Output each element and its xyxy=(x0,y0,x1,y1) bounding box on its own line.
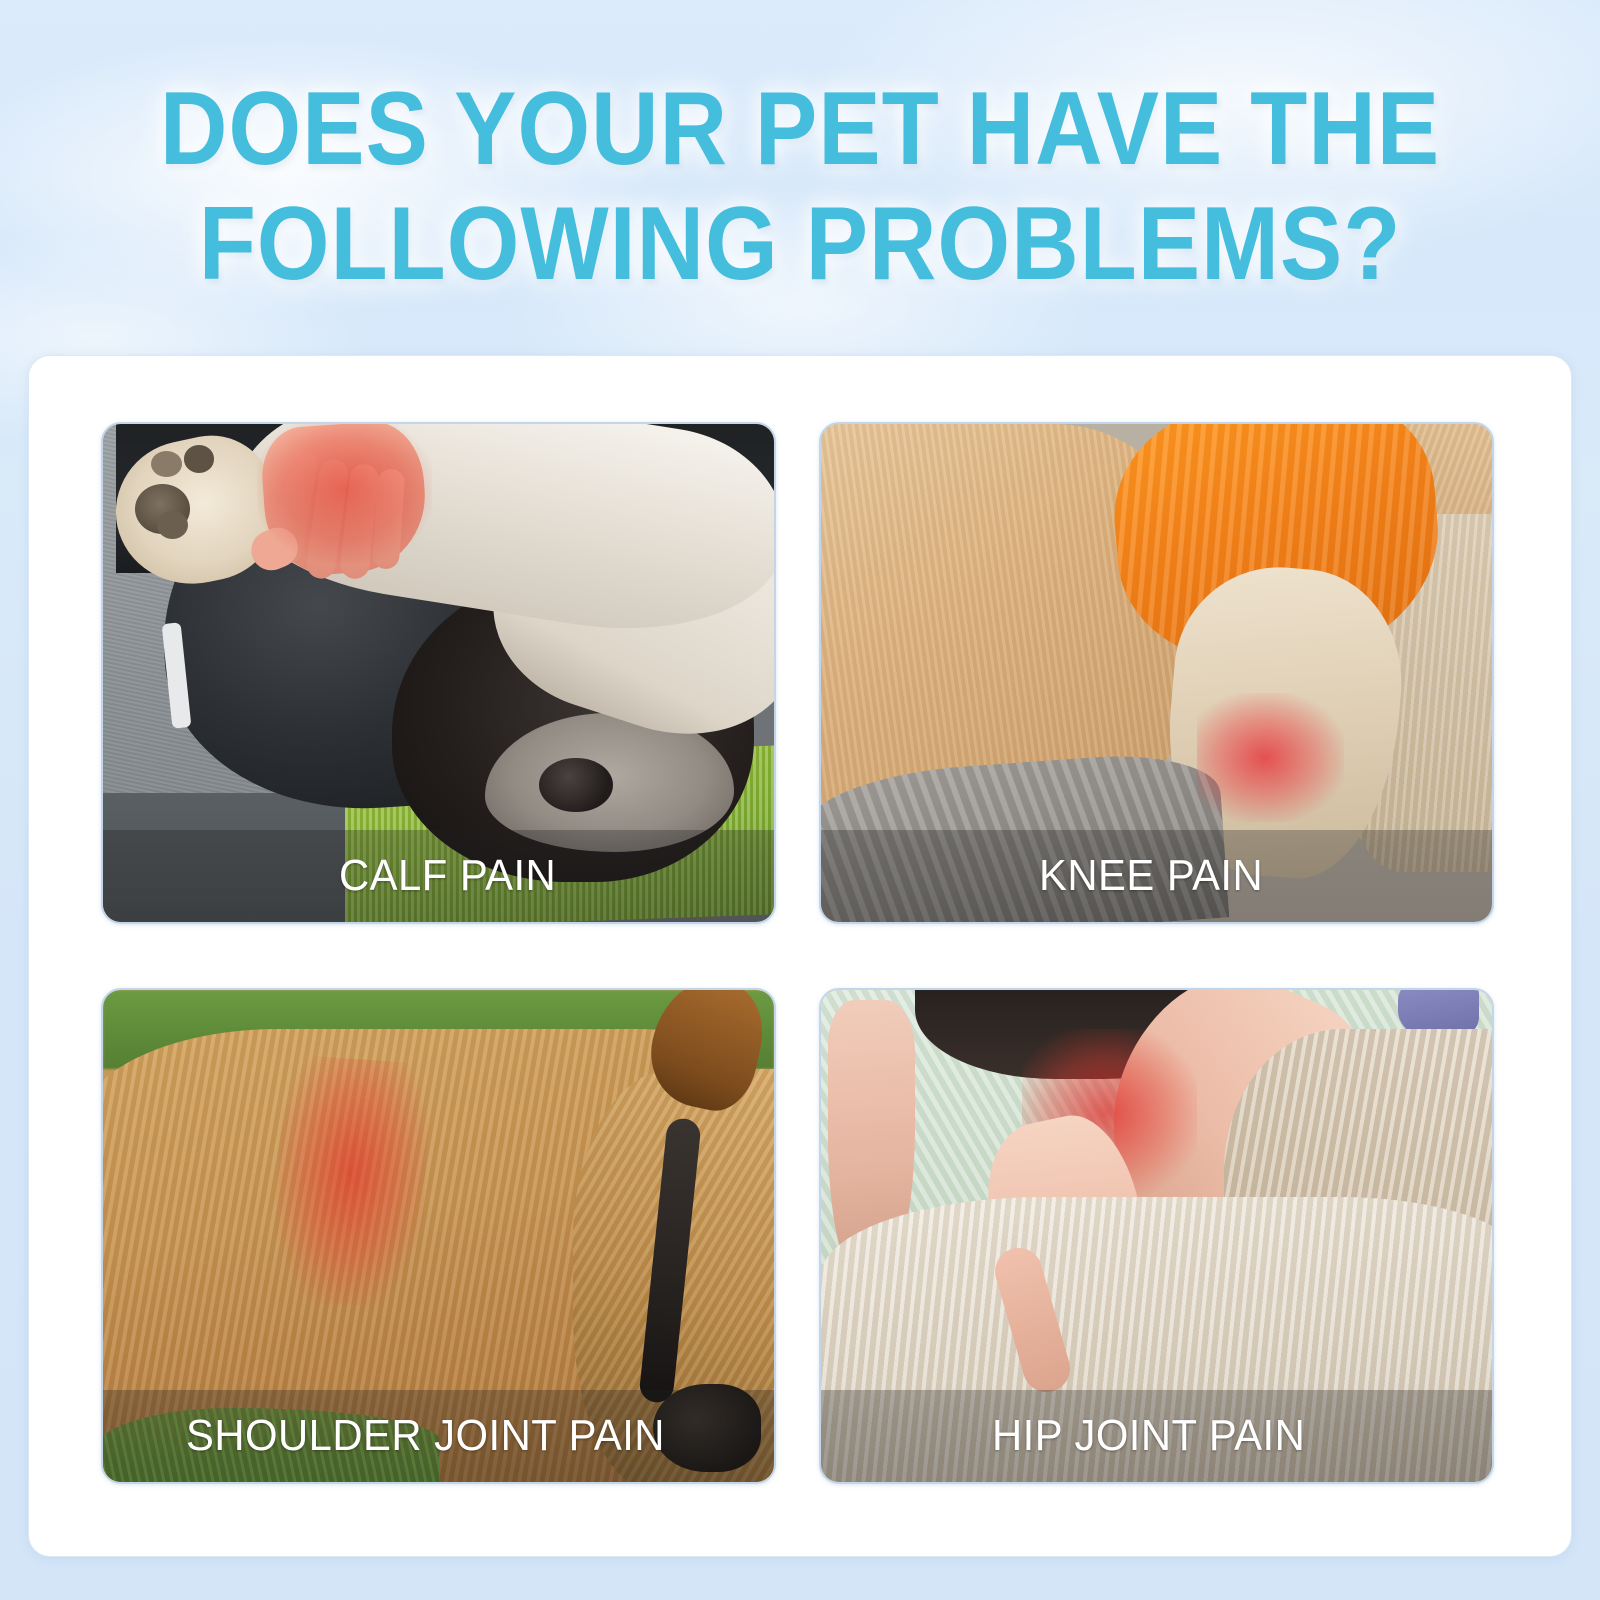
content-panel: CALF PAIN KNEE PAIN xyxy=(28,355,1572,1557)
caption-bar-calf-pain: CALF PAIN xyxy=(103,830,774,922)
promo-poster: DOES YOUR PET HAVE THE FOLLOWING PROBLEM… xyxy=(0,0,1600,1600)
pain-card-knee-pain[interactable]: KNEE PAIN xyxy=(819,422,1494,924)
pain-highlight-icon xyxy=(1197,693,1345,822)
pain-highlight-icon xyxy=(269,1054,433,1310)
card-label-calf-pain: CALF PAIN xyxy=(339,851,556,901)
dog-nose xyxy=(539,758,613,813)
headline-line-1: DOES YOUR PET HAVE THE xyxy=(80,72,1520,187)
pain-card-grid: CALF PAIN KNEE PAIN xyxy=(101,422,1509,1484)
paw-pad-toe-2 xyxy=(184,445,215,473)
headline-line-2: FOLLOWING PROBLEMS? xyxy=(80,187,1520,302)
pain-card-calf-pain[interactable]: CALF PAIN xyxy=(101,422,776,924)
caption-bar-shoulder-joint-pain: SHOULDER JOINT PAIN xyxy=(103,1390,774,1482)
pain-card-shoulder-joint-pain[interactable]: SHOULDER JOINT PAIN xyxy=(101,988,776,1484)
card-label-knee-pain: KNEE PAIN xyxy=(1039,851,1263,901)
headline: DOES YOUR PET HAVE THE FOLLOWING PROBLEM… xyxy=(0,72,1600,302)
pain-highlight-icon xyxy=(257,424,431,563)
caption-bar-knee-pain: KNEE PAIN xyxy=(821,830,1492,922)
paw-pad-toe-3 xyxy=(157,511,188,539)
card-label-hip-joint-pain: HIP JOINT PAIN xyxy=(992,1411,1305,1461)
pain-card-hip-joint-pain[interactable]: HIP JOINT PAIN xyxy=(819,988,1494,1484)
card-label-shoulder-joint-pain: SHOULDER JOINT PAIN xyxy=(186,1411,665,1461)
caption-bar-hip-joint-pain: HIP JOINT PAIN xyxy=(821,1390,1492,1482)
